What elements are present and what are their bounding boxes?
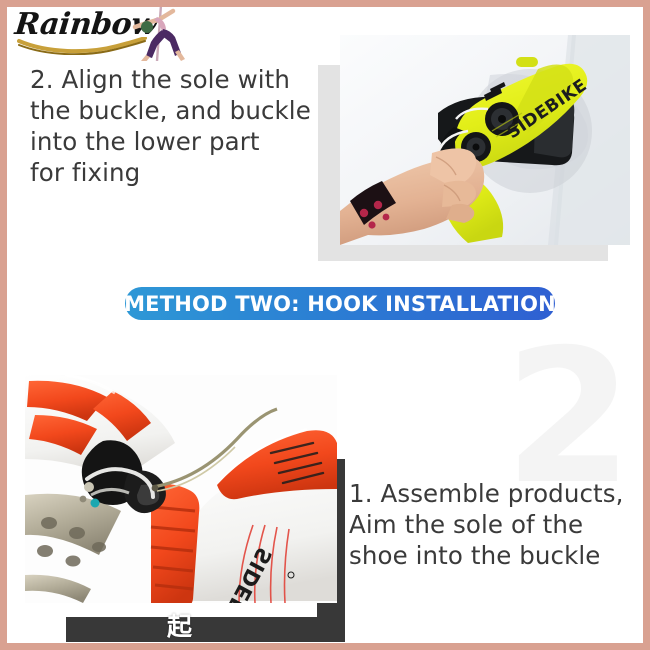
method-banner-label: METHOD TWO: HOOK INSTALLATION bbox=[124, 292, 556, 316]
step-one-instruction-text: 1. Assemble products, Aim the sole of th… bbox=[349, 479, 643, 572]
brand-logo: Rainbow bbox=[9, 7, 199, 61]
method-banner: METHOD TWO: HOOK INSTALLATION bbox=[125, 287, 555, 320]
photo-hand-holding-shoe: SIDEBIKE bbox=[340, 35, 630, 245]
yoga-figure-icon bbox=[129, 7, 195, 61]
gold-swoosh-icon bbox=[17, 37, 147, 55]
step-two-instruction-text: 2. Align the sole with the buckle, and b… bbox=[30, 65, 350, 188]
photo-buckle-closeup: SIDEBIKE bbox=[25, 375, 337, 603]
product-instruction-card: 2 Rainbow 2. Align the sole with bbox=[7, 7, 643, 643]
photo-shadow-block-lower-bottom bbox=[66, 617, 338, 642]
cjk-watermark-character: 起 bbox=[167, 607, 192, 643]
